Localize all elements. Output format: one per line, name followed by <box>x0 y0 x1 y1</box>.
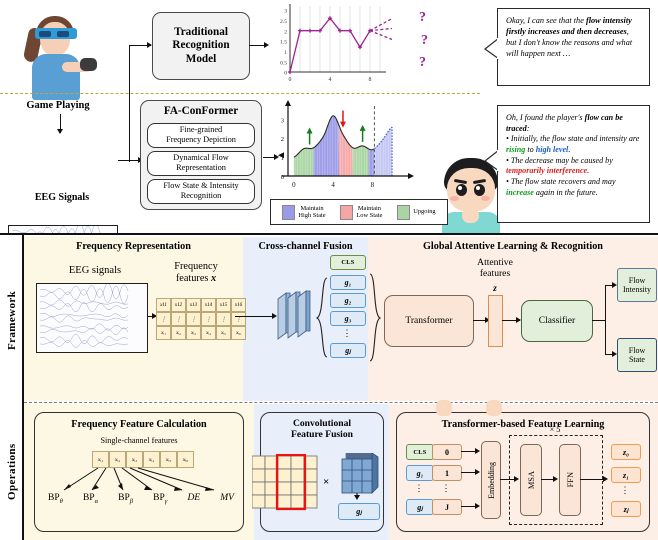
speech-tail-bottom <box>484 150 499 172</box>
y-tick-label: 1 <box>284 50 287 56</box>
legend-label-upgoing: Upgoing <box>413 208 435 215</box>
matrix-cell: x14 <box>201 298 216 312</box>
output-flow-intensity: Flow Intensity <box>617 268 657 302</box>
output-z0: z₀ <box>611 444 641 460</box>
hand-left <box>436 400 452 416</box>
b2-p1: • The decrease may be caused by <box>506 156 613 165</box>
data-point <box>359 46 361 48</box>
legend-swatch-maintain-high <box>282 205 295 220</box>
y-tick-label: 1 <box>281 155 284 162</box>
classifier-block: Classifier <box>521 300 593 342</box>
data-point <box>349 30 351 32</box>
conv-title-line2: Feature Fusion <box>291 429 353 440</box>
legend-item-upgoing: Upgoing <box>397 205 435 220</box>
grouping-brace-2 <box>369 273 381 363</box>
matrix-cell: xᵢ₆ <box>177 451 194 468</box>
connector-matrix-to-conv <box>235 316 275 317</box>
matrix-cell: ⋮ <box>171 312 186 326</box>
game-playing-label: Game Playing <box>0 100 116 111</box>
chart-legend: MaintainHigh State MaintainLow State Upg… <box>270 199 448 225</box>
area-segment <box>369 149 375 176</box>
fa-conformer-title: FA-ConFormer <box>141 105 261 119</box>
module-1-line-2: Frequency Depiction <box>166 135 236 145</box>
repeat-count-label: × 5 <box>509 425 601 434</box>
output-zJ: zⱼ <box>611 501 641 517</box>
conv-kernel-icon <box>338 453 380 501</box>
module-1-line-1: Fine-grained <box>166 125 236 135</box>
connector-classifier-out <box>592 320 606 321</box>
eye-left <box>456 184 467 196</box>
matrix-cell: x13 <box>186 298 201 312</box>
tfl-pos-J: J <box>432 499 462 515</box>
legend-swatch-upgoing <box>397 205 410 220</box>
matrix-cell: xᵢ₂ <box>109 451 126 468</box>
question-mark-3: ? <box>419 55 426 71</box>
insight-lead-text: Oh, I found the player's <box>506 113 585 122</box>
traditional-model-line-3: Model <box>172 53 229 67</box>
frequency-feature-matrix: x11x12x13x14x15x16 ⋮⋮⋮⋮⋮⋮ xᵢ₁xᵢ₂xᵢ₃xᵢ₄xᵢ… <box>156 298 246 340</box>
row-label-framework: Framework <box>2 239 22 401</box>
frequency-feature-names: BPθBPαBPβBPγDEMV <box>48 493 234 513</box>
area-segment <box>353 146 369 176</box>
token-g1: g₁ <box>330 275 366 290</box>
ffn-block: FFN <box>559 444 581 516</box>
y-tick-label: 3 <box>281 117 285 124</box>
b1-p3: . <box>568 145 570 154</box>
arrowhead <box>475 448 480 454</box>
arrowhead <box>603 476 608 482</box>
b1-p2: to <box>525 145 535 154</box>
x-tick-label: 8 <box>371 181 375 189</box>
feature-label: MV <box>220 493 234 503</box>
motivation-section: Game Playing EEG Signals Tra <box>0 0 658 233</box>
msa-block: MSA <box>520 444 542 516</box>
row-label-operations: Operations <box>2 407 22 537</box>
head <box>447 168 495 212</box>
token-ellipsis: ⋮ <box>330 328 364 339</box>
matrix-cell: x11 <box>156 298 171 312</box>
framework-eeg-label: EEG signals <box>45 265 145 276</box>
insight-bullet-2: • The decrease may be caused by temporar… <box>506 156 641 177</box>
matrix-cell: xᵢ₄ <box>201 326 216 340</box>
legend-label-maintain-low: MaintainLow State <box>356 205 382 220</box>
title-frequency-representation: Frequency Representation <box>24 241 243 252</box>
title-convolutional-feature-fusion: Convolutional Feature Fusion <box>260 418 384 440</box>
matrix-cell: xᵢ₆ <box>231 326 246 340</box>
b3-p1: • The flow state recovers and may <box>506 177 616 186</box>
module-fine-grained-frequency-depiction: Fine-grained Frequency Depiction <box>147 123 255 148</box>
flow-state-line1: Flow <box>629 346 645 355</box>
connector-vertical <box>129 46 130 162</box>
output-flow-state: Flow State <box>617 338 657 372</box>
area-segment <box>294 148 314 176</box>
feature-label: BPθ <box>48 493 63 505</box>
module-2-line-2: Representation <box>173 163 229 173</box>
freq-feat-line2: features <box>176 273 209 284</box>
b1-p1: • Initially, the flow state and intensit… <box>506 134 639 143</box>
traditional-recognition-model-box: Traditional Recognition Model <box>152 12 250 80</box>
feature-label: BPα <box>83 493 98 505</box>
conv-output-token-gj: gⱼ <box>338 503 380 520</box>
title-global-attentive: Global Attentive Learning & Recognition <box>368 241 658 252</box>
token-gJ: gⱼ <box>330 343 366 358</box>
y-tick-label: 2 <box>281 136 284 143</box>
traditional-model-line-1: Traditional <box>172 26 229 40</box>
framework-eeg-plot <box>36 283 148 353</box>
insight-bullet-3: • The flow state recovers and may increa… <box>506 177 641 198</box>
vr-headset-icon <box>35 28 77 39</box>
y-tick-label: 0.5 <box>280 60 287 66</box>
speech-bubble-confusion: Okay, I can see that the flow intensity … <box>497 8 650 86</box>
area-segment <box>339 126 353 176</box>
y-tick-label: 0 <box>281 174 285 181</box>
data-point <box>329 17 331 19</box>
matrix-cell: x15 <box>216 298 231 312</box>
z-symbol-label: z <box>486 283 504 293</box>
legend-swatch-maintain-low <box>340 205 353 220</box>
x-tick-label: 4 <box>331 181 335 189</box>
b1-green: rising <box>506 145 525 154</box>
single-channel-features-subtitle: Single-channel features <box>34 436 244 445</box>
tfl-pos-0: 0 <box>432 444 462 460</box>
embedding-block: Embedding <box>481 441 501 519</box>
attn-line2: features <box>480 268 510 279</box>
game-player-illustration <box>18 8 96 100</box>
attn-line1: Attentive <box>477 257 513 268</box>
y-tick-label: 3 <box>284 9 287 15</box>
flow-intensity-line2: Intensity <box>623 285 651 294</box>
attentive-features-label: Attentive features <box>460 257 530 279</box>
matrix-row-bot: xᵢ₁xᵢ₂xᵢ₃xᵢ₄xᵢ₅xᵢ₆ <box>156 326 246 340</box>
arrowhead <box>475 503 480 509</box>
matrix-cell: xᵢ₃ <box>126 451 143 468</box>
b2-p2: . <box>587 166 589 175</box>
section-divider-dashed <box>0 93 480 94</box>
hand <box>462 208 479 223</box>
x-tick-label: 8 <box>369 77 372 83</box>
matrix-cell: ⋮ <box>201 312 216 326</box>
token-g2: g₂ <box>330 293 366 308</box>
line-chart-svg: 00.511.522.53048 <box>268 2 392 90</box>
attentive-feature-vector <box>488 295 503 347</box>
data-point <box>299 30 301 32</box>
hand-right <box>486 400 502 416</box>
eye-right <box>474 184 485 196</box>
output-ellipsis: ⋮ <box>611 485 639 496</box>
matrix-cell: xᵢ₁ <box>92 451 109 468</box>
eeg-signals-label: EEG Signals <box>8 192 116 203</box>
freq-feat-symbol: x <box>211 273 216 284</box>
cls-token: CLS <box>330 255 366 270</box>
area-chart-svg: 0123048 <box>268 100 414 198</box>
x-tick-label: 0 <box>292 181 296 189</box>
method-overview-section: Framework Operations Frequency Represent… <box>0 233 658 540</box>
b1-blue: high level <box>536 145 569 154</box>
question-mark-1: ? <box>419 10 426 26</box>
single-channel-feature-cells: xᵢ₁xᵢ₂xᵢ₃xᵢ₄xᵢ₅xᵢ₆ <box>92 451 194 468</box>
feature-label: DE <box>187 493 200 503</box>
matrix-cell: xᵢ₅ <box>216 326 231 340</box>
cheek-right <box>481 196 490 201</box>
tfl-input-cls: CLS <box>406 444 434 460</box>
frequency-features-label: Frequency features x <box>152 261 240 285</box>
flow-intensity-line1: Flow <box>629 276 645 285</box>
arrowhead <box>475 469 480 475</box>
feature-label: BPγ <box>153 493 167 505</box>
matrix-cell: xᵢ₁ <box>156 326 171 340</box>
matrix-cell: xᵢ₅ <box>160 451 177 468</box>
legend-label-maintain-high: MaintainHigh State <box>298 205 325 220</box>
insight-lead: Oh, I found the player's flow can be tra… <box>506 113 641 134</box>
title-frequency-feature-calculation: Frequency Feature Calculation <box>34 419 244 430</box>
token-g3: g₃ <box>330 311 366 326</box>
title-cross-channel-fusion: Cross-channel Fusion <box>243 241 368 252</box>
trend-arrow-up-head <box>360 125 366 131</box>
forecast-arrow <box>370 28 392 30</box>
matrix-cell: ⋮ <box>216 312 231 326</box>
gamepad-icon <box>80 58 97 71</box>
faconformer-output-chart: 0123048 <box>268 100 414 198</box>
module-dynamical-flow-representation: Dynamical Flow Representation <box>147 151 255 176</box>
forecast-arrow <box>370 31 392 41</box>
module-3-line-2: Recognition <box>163 191 238 201</box>
matrix-cell: xᵢ₂ <box>171 326 186 340</box>
arrowhead <box>57 129 63 134</box>
tfl-input-ellipsis: ⋮ <box>406 483 432 494</box>
traditional-output-chart: 00.511.522.53048 <box>268 2 392 90</box>
speech-tail-top <box>484 38 499 60</box>
trend-arrow-down-head <box>340 122 346 128</box>
module-flow-state-intensity-recognition: Flow State & Intensity Recognition <box>147 179 255 204</box>
trend-arrow-up-head <box>307 128 313 134</box>
b3-p2: again in the future. <box>534 188 598 197</box>
x-axis-arrowhead <box>408 173 414 179</box>
insight-lead-colon: : <box>527 124 530 133</box>
freq-feat-line1: Frequency <box>174 261 217 272</box>
fa-conformer-box: FA-ConFormer Fine-grained Frequency Depi… <box>140 100 262 210</box>
y-tick-label: 2.5 <box>280 19 287 25</box>
b3-green: increase <box>506 188 534 197</box>
data-point <box>289 71 291 73</box>
framework-operations-divider <box>24 402 658 403</box>
question-mark-2: ? <box>421 33 428 49</box>
ffn-label: FFN <box>566 472 575 487</box>
x-tick-label: 0 <box>289 77 292 83</box>
matrix-cell: x16 <box>231 298 246 312</box>
matrix-cell: ⋮ <box>186 312 201 326</box>
feature-fanout-arrows <box>48 467 230 495</box>
data-point <box>339 30 341 32</box>
matrix-cell: x12 <box>171 298 186 312</box>
cheek-left <box>450 196 459 201</box>
data-point <box>319 30 321 32</box>
traditional-model-line-2: Recognition <box>172 39 229 53</box>
conv-stack-icon <box>276 287 318 345</box>
x-tick-label: 4 <box>329 77 332 83</box>
eeg-traces <box>37 284 147 352</box>
feature-map-grid <box>252 454 320 516</box>
data-point <box>309 30 311 32</box>
output-z1: z₁ <box>611 467 641 483</box>
tfl-pos-ellipsis: ⋮ <box>432 483 460 494</box>
multiply-symbol: × <box>323 476 329 488</box>
transformer-block: Transformer <box>384 295 474 347</box>
matrix-cell: xᵢ₄ <box>143 451 160 468</box>
insight-bullet-1: • Initially, the flow state and intensit… <box>506 134 641 155</box>
flow-state-line2: State <box>629 355 645 364</box>
conv-title-line1: Convolutional <box>293 418 351 429</box>
arrowhead <box>553 476 558 482</box>
msa-label: MSA <box>527 471 536 489</box>
matrix-row-mid: ⋮⋮⋮⋮⋮⋮ <box>156 312 246 326</box>
matrix-row-top: x11x12x13x14x15x16 <box>156 298 246 312</box>
tfl-input-gJ: gⱼ <box>406 499 434 515</box>
matrix-cell: ⋮ <box>231 312 246 326</box>
connector-split <box>605 285 606 355</box>
tfl-input-g1: g₁ <box>406 465 434 481</box>
forecast-arrow <box>370 17 392 31</box>
feature-label: BPβ <box>118 493 133 505</box>
module-3-line-1: Flow State & Intensity <box>163 181 238 191</box>
module-2-line-1: Dynamical Flow <box>173 153 229 163</box>
y-axis-arrowhead <box>285 100 291 106</box>
speech-bubble-insight: Oh, I found the player's flow can be tra… <box>497 105 650 223</box>
y-tick-label: 1.5 <box>280 40 287 46</box>
y-tick-label: 0 <box>284 71 287 77</box>
y-tick-label: 2 <box>284 29 287 35</box>
speech-top-part-1: Okay, I can see that the <box>506 16 586 25</box>
grouping-brace <box>316 277 328 359</box>
legend-item-maintain-high: MaintainHigh State <box>282 205 325 220</box>
embedding-label: Embedding <box>487 462 496 499</box>
tfl-pos-1: 1 <box>432 465 462 481</box>
legend-item-maintain-low: MaintainLow State <box>340 205 382 220</box>
matrix-cell: ⋮ <box>156 312 171 326</box>
b2-red: temporarily interference <box>506 166 587 175</box>
matrix-cell: xᵢ₃ <box>186 326 201 340</box>
